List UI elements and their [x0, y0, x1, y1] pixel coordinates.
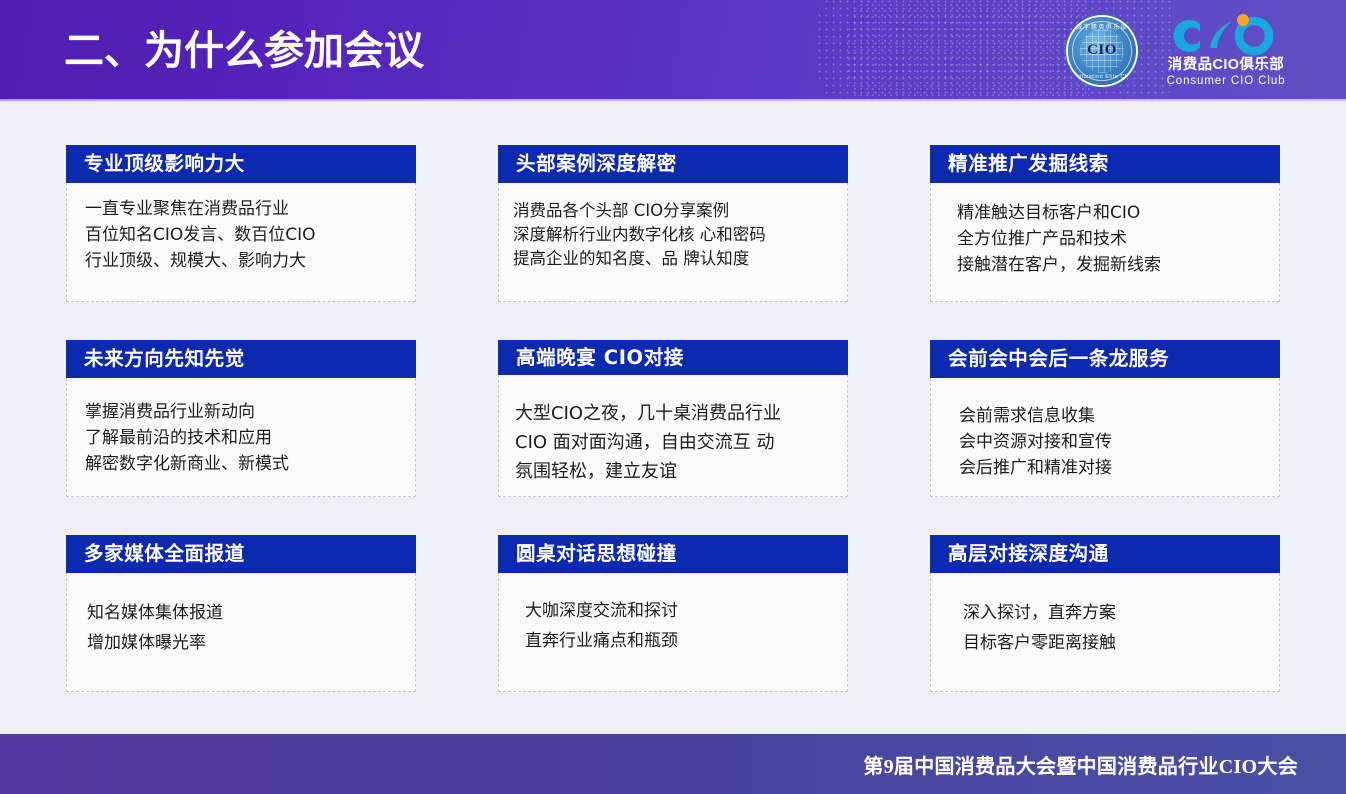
benefit-card: 精准推广发掘线索 精准触达目标客户和CIO 全方位推广产品和技术 接触潜在客户，…	[930, 145, 1280, 302]
card-line: 一直专业聚焦在消费品行业	[85, 197, 403, 223]
card-header: 会前会中会后一条龙服务	[930, 340, 1280, 378]
benefit-card: 圆桌对话思想碰撞 大咖深度交流和探讨 直奔行业痛点和瓶颈	[498, 535, 848, 692]
benefit-card-grid: 专业顶级影响力大 一直专业聚焦在消费品行业 百位知名CIO发言、数百位CIO 行…	[66, 145, 1281, 692]
card-line: 提高企业的知名度、品 牌认知度	[513, 247, 835, 271]
benefit-card: 会前会中会后一条龙服务 会前需求信息收集 会中资源对接和宣传 会后推广和精准对接	[930, 340, 1280, 497]
card-header: 圆桌对话思想碰撞	[498, 535, 848, 573]
card-line: 知名媒体集体报道	[87, 599, 403, 629]
card-line: 接触潜在客户，发掘新线索	[957, 253, 1267, 279]
card-header: 专业顶级影响力大	[66, 145, 416, 183]
club-name-en: Consumer CIO Club	[1167, 75, 1286, 88]
card-title: 多家媒体全面报道	[84, 544, 245, 564]
card-header: 多家媒体全面报道	[66, 535, 416, 573]
benefit-card: 高层对接深度沟通 深入探讨，直奔方案 目标客户零距离接触	[930, 535, 1280, 692]
card-header: 未来方向先知先觉	[66, 340, 416, 378]
card-header: 头部案例深度解密	[498, 145, 848, 183]
card-line: 会后推广和精准对接	[959, 456, 1267, 482]
card-line: 直奔行业痛点和瓶颈	[525, 627, 835, 657]
card-header: 高层对接深度沟通	[930, 535, 1280, 573]
card-line: 会前需求信息收集	[959, 404, 1267, 430]
card-line: 掌握消费品行业新动向	[85, 400, 403, 426]
card-header: 高端晚宴 CIO对接	[498, 340, 848, 375]
card-line: 全方位推广产品和技术	[957, 227, 1267, 253]
card-line: 氛围轻松，建立友谊	[515, 457, 835, 486]
card-body: 消费品各个头部 CIO分享案例 深度解析行业内数字化核 心和密码 提高企业的知名…	[498, 183, 848, 302]
card-line: 精准触达目标客户和CIO	[957, 201, 1267, 227]
card-title: 高层对接深度沟通	[948, 544, 1109, 564]
seal-arc-top-label: 数字精英俱乐部	[1068, 22, 1136, 31]
card-line: 解密数字化新商业、新模式	[85, 452, 403, 478]
card-line: 会中资源对接和宣传	[959, 430, 1267, 456]
card-body: 深入探讨，直奔方案 目标客户零距离接触	[930, 573, 1280, 692]
card-line: 消费品各个头部 CIO分享案例	[513, 199, 835, 223]
benefit-card: 未来方向先知先觉 掌握消费品行业新动向 了解最前沿的技术和应用 解密数字化新商业…	[66, 340, 416, 497]
card-title: 圆桌对话思想碰撞	[516, 544, 677, 564]
card-body: 知名媒体集体报道 增加媒体曝光率	[66, 573, 416, 692]
card-body: 一直专业聚焦在消费品行业 百位知名CIO发言、数百位CIO 行业顶级、规模大、影…	[66, 183, 416, 302]
card-body: 会前需求信息收集 会中资源对接和宣传 会后推广和精准对接	[930, 378, 1280, 497]
card-title: 未来方向先知先觉	[84, 349, 245, 369]
card-line: 深入探讨，直奔方案	[963, 599, 1267, 629]
card-title: 头部案例深度解密	[516, 154, 677, 174]
slide-root: 二、为什么参加会议 数字精英俱乐部 CIO Digitization Elite…	[0, 0, 1346, 794]
benefit-card: 头部案例深度解密 消费品各个头部 CIO分享案例 深度解析行业内数字化核 心和密…	[498, 145, 848, 302]
card-title: 高端晚宴 CIO对接	[516, 348, 684, 368]
card-body: 大咖深度交流和探讨 直奔行业痛点和瓶颈	[498, 573, 848, 692]
consumer-cio-club-logo: 消费品CIO俱乐部 Consumer CIO Club	[1162, 14, 1290, 88]
seal-arc-bottom-label: Digitization Elite Club	[1068, 74, 1136, 80]
benefit-card: 高端晚宴 CIO对接 大型CIO之夜，几十桌消费品行业 CIO 面对面沟通，自由…	[498, 340, 848, 497]
seal-center-label: CIO	[1068, 42, 1136, 59]
card-title: 会前会中会后一条龙服务	[948, 349, 1169, 369]
card-line: 百位知名CIO发言、数百位CIO	[85, 223, 403, 249]
card-line: 行业顶级、规模大、影响力大	[85, 249, 403, 275]
card-body: 精准触达目标客户和CIO 全方位推广产品和技术 接触潜在客户，发掘新线索	[930, 183, 1280, 302]
card-line: CIO 面对面沟通，自由交流互 动	[515, 428, 835, 457]
header-underline-divider	[0, 99, 1346, 101]
card-line: 大咖深度交流和探讨	[525, 597, 835, 627]
globe-dot-texture-secondary-icon	[846, 0, 1096, 101]
page-title: 二、为什么参加会议	[64, 31, 424, 71]
benefit-card: 多家媒体全面报道 知名媒体集体报道 增加媒体曝光率	[66, 535, 416, 692]
card-body: 掌握消费品行业新动向 了解最前沿的技术和应用 解密数字化新商业、新模式	[66, 378, 416, 497]
card-header: 精准推广发掘线索	[930, 145, 1280, 183]
card-line: 了解最前沿的技术和应用	[85, 426, 403, 452]
card-line: 大型CIO之夜，几十桌消费品行业	[515, 399, 835, 428]
footer-conference-title: 第9届中国消费品大会暨中国消费品行业CIO大会	[863, 750, 1298, 779]
card-line: 增加媒体曝光率	[87, 629, 403, 659]
cio-wordmark-icon	[1162, 14, 1290, 56]
cio-seal-logo-icon: 数字精英俱乐部 CIO Digitization Elite Club	[1068, 17, 1136, 85]
card-body: 大型CIO之夜，几十桌消费品行业 CIO 面对面沟通，自由交流互 动 氛围轻松，…	[498, 375, 848, 497]
slide-header: 二、为什么参加会议 数字精英俱乐部 CIO Digitization Elite…	[0, 0, 1346, 101]
header-logos: 数字精英俱乐部 CIO Digitization Elite Club	[1068, 12, 1290, 90]
slide-footer: 第9届中国消费品大会暨中国消费品行业CIO大会	[0, 734, 1346, 794]
card-title: 专业顶级影响力大	[84, 154, 245, 174]
club-name-cn: 消费品CIO俱乐部	[1168, 57, 1284, 74]
card-title: 精准推广发掘线索	[948, 154, 1109, 174]
card-line: 深度解析行业内数字化核 心和密码	[513, 223, 835, 247]
card-line: 目标客户零距离接触	[963, 629, 1267, 659]
benefit-card: 专业顶级影响力大 一直专业聚焦在消费品行业 百位知名CIO发言、数百位CIO 行…	[66, 145, 416, 302]
